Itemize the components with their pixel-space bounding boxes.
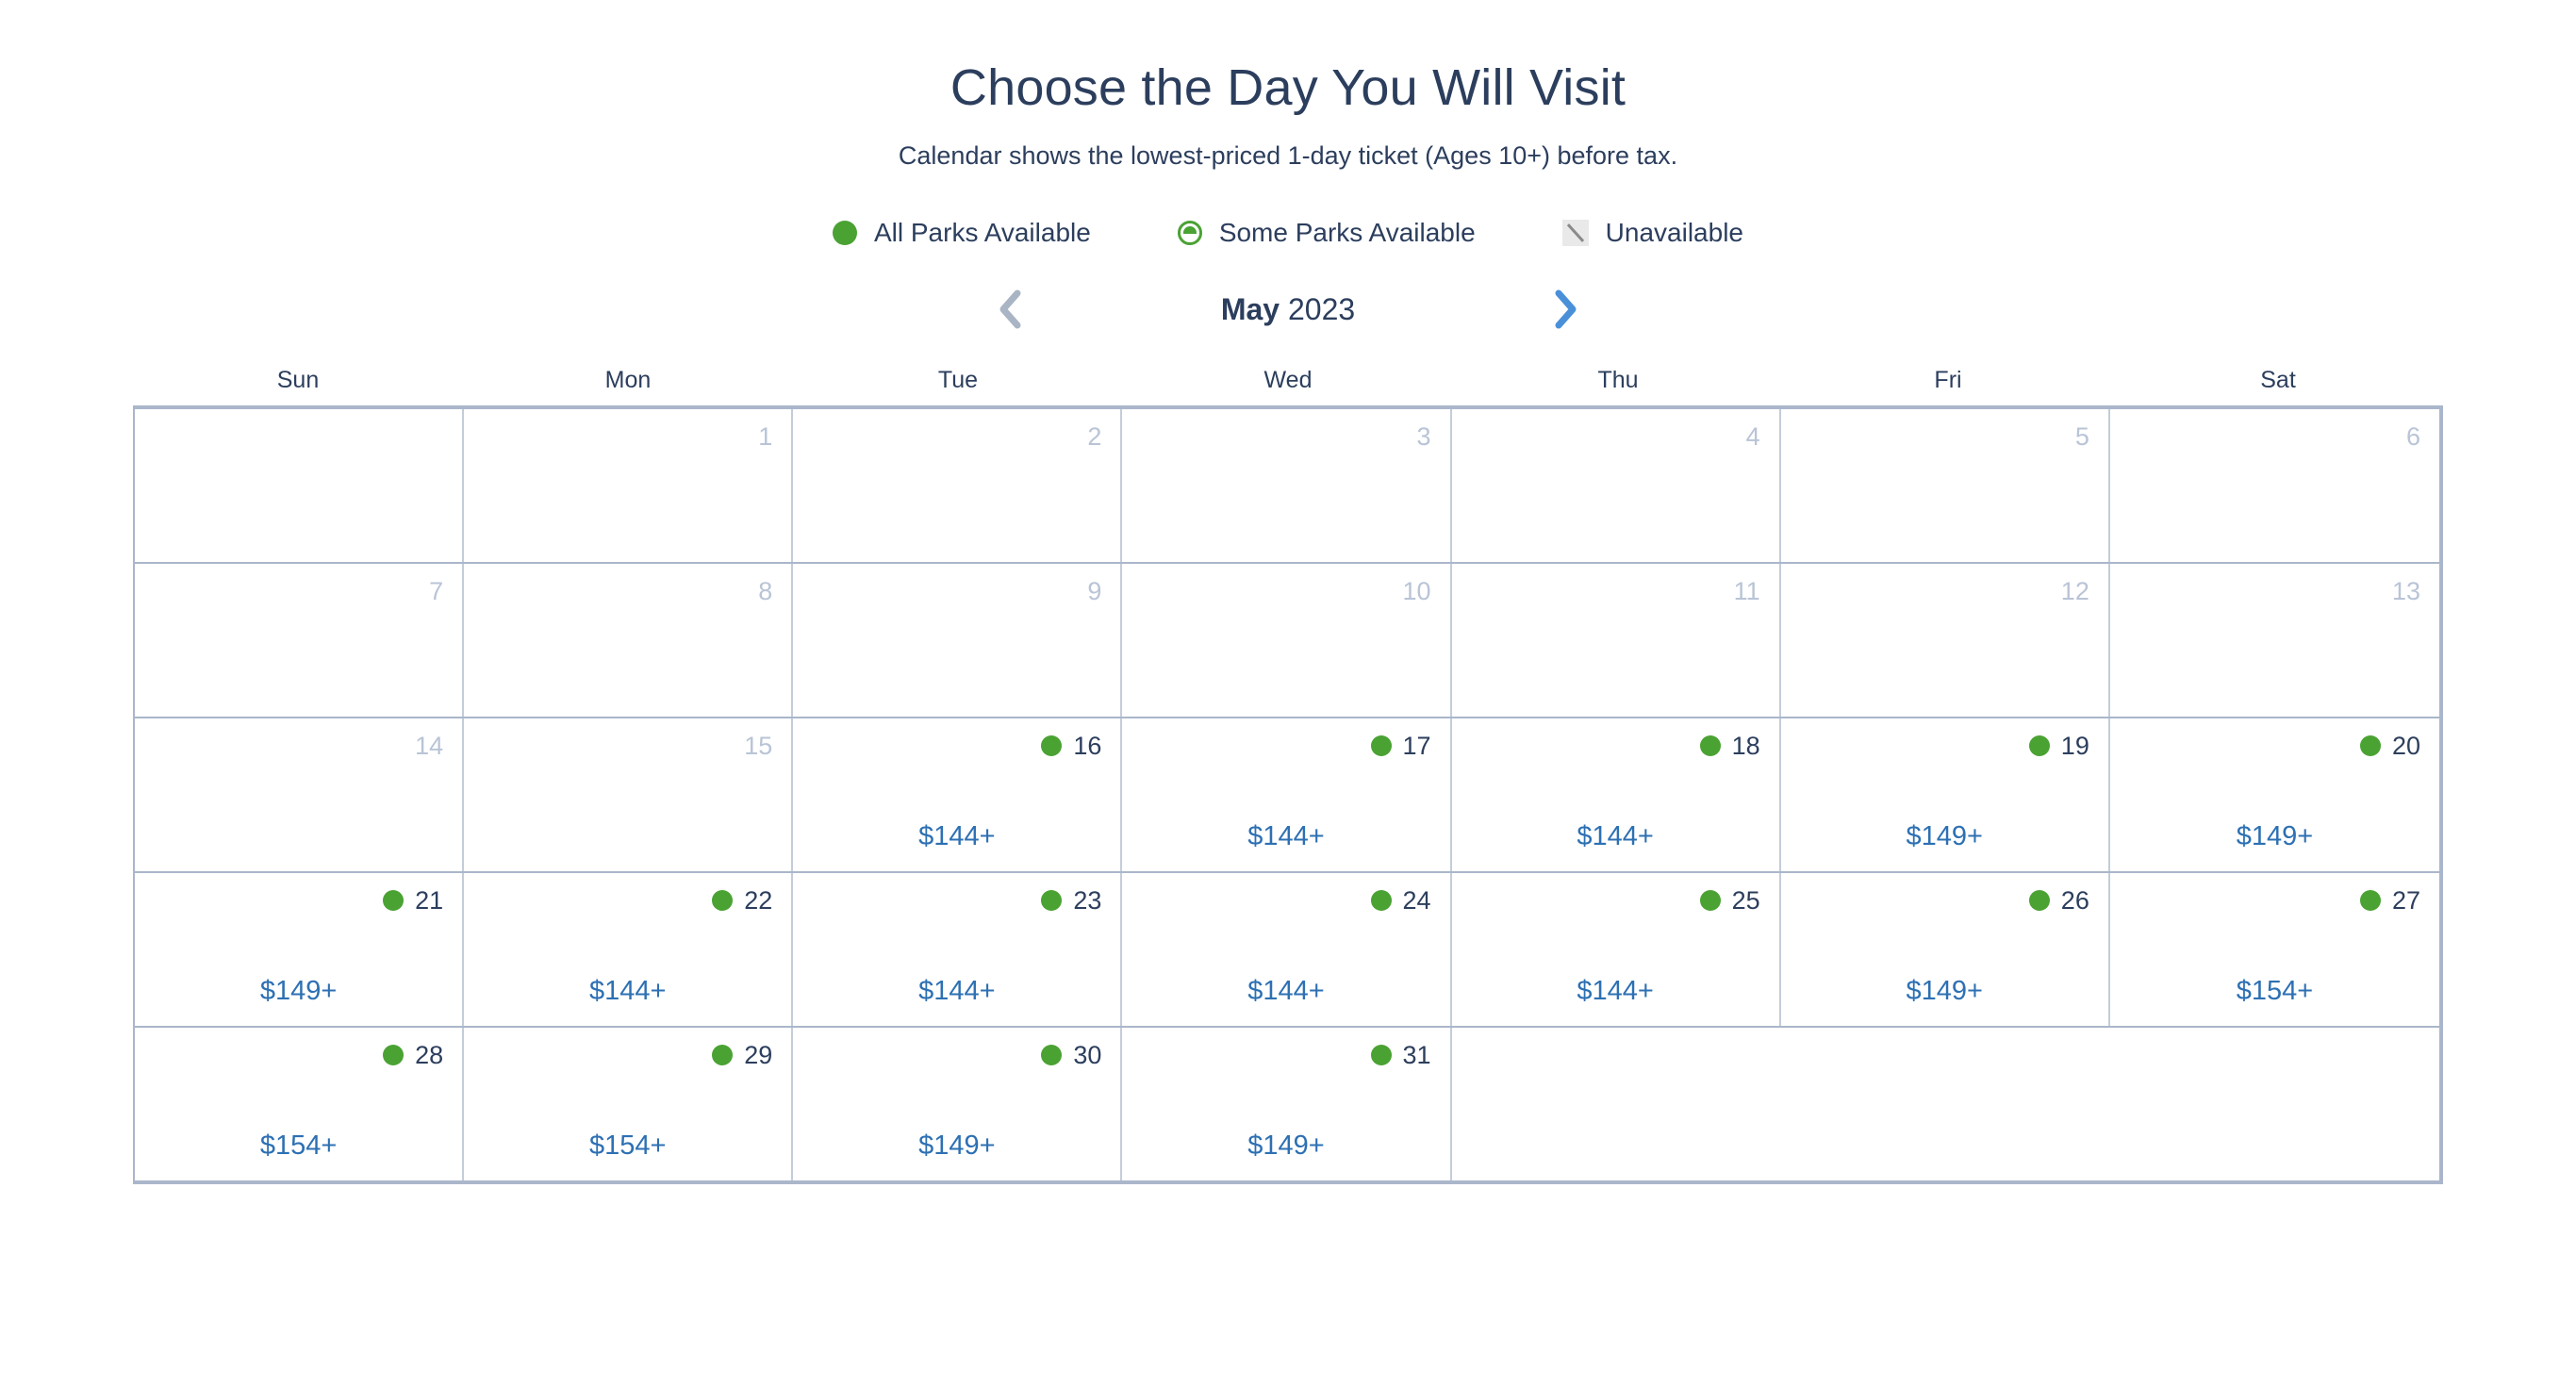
chevron-right-icon <box>1554 289 1578 329</box>
green-filled-circle-icon <box>1700 735 1721 756</box>
calendar-day-header: 30 <box>812 1039 1101 1071</box>
next-month-button[interactable] <box>1541 284 1592 335</box>
calendar-day-header: 26 <box>1800 884 2089 916</box>
calendar-day-number: 9 <box>1087 579 1101 604</box>
calendar-week-row: 21$149+22$144+23$144+24$144+25$144+26$14… <box>135 873 2439 1028</box>
calendar-day-number: 20 <box>2392 734 2420 759</box>
calendar-day-cell[interactable]: 17$144+ <box>1122 718 1451 871</box>
calendar-day-header: 22 <box>483 884 772 916</box>
calendar-day-number: 10 <box>1403 579 1431 604</box>
calendar-container: Sun Mon Tue Wed Thu Fri Sat 123456789101… <box>133 367 2443 1184</box>
calendar-day-header: 15 <box>483 730 772 762</box>
calendar-day-cell[interactable]: 26$149+ <box>1781 873 2110 1026</box>
calendar-day-cell[interactable]: 25$144+ <box>1452 873 1781 1026</box>
calendar-day-header: 12 <box>1800 575 2089 607</box>
calendar-day-cell-disabled: 5 <box>1781 409 2110 562</box>
calendar-day-cell[interactable]: 28$154+ <box>135 1028 464 1180</box>
availability-legend: All Parks Available Some Parks Available… <box>0 218 2576 248</box>
calendar-day-number: 27 <box>2392 888 2420 914</box>
chevron-left-icon <box>998 289 1022 329</box>
calendar-day-price: $144+ <box>812 976 1101 1013</box>
green-filled-circle-icon <box>1041 1045 1062 1065</box>
calendar-day-number: 22 <box>744 888 772 914</box>
calendar-day-price: $144+ <box>1471 976 1760 1013</box>
calendar-day-number: 28 <box>415 1043 443 1068</box>
calendar-day-number: 29 <box>744 1043 772 1068</box>
calendar-day-number: 8 <box>758 579 772 604</box>
calendar-day-cell[interactable]: 24$144+ <box>1122 873 1451 1026</box>
calendar-week-row: 28$154+29$154+30$149+31$149+ <box>135 1028 2439 1180</box>
calendar-day-cell[interactable]: 29$154+ <box>464 1028 793 1180</box>
calendar-day-cell-disabled: 7 <box>135 564 464 717</box>
weekday-mon: Mon <box>463 367 793 394</box>
calendar-day-number: 21 <box>415 888 443 914</box>
calendar-day-price: $149+ <box>1141 1130 1430 1167</box>
calendar-day-header: 4 <box>1471 421 1760 453</box>
calendar-day-cell-disabled: 8 <box>464 564 793 717</box>
calendar-week-row: 123456 <box>135 409 2439 564</box>
weekday-fri: Fri <box>1783 367 2113 394</box>
calendar-day-number: 13 <box>2392 579 2420 604</box>
calendar-day-header: 29 <box>483 1039 772 1071</box>
diagonal-slash-square-icon <box>1562 220 1589 246</box>
page-header: Choose the Day You Will Visit Calendar s… <box>0 0 2576 173</box>
calendar-day-number: 14 <box>415 734 443 759</box>
green-filled-circle-icon <box>1371 890 1392 911</box>
calendar-day-cell-disabled: 1 <box>464 409 793 562</box>
calendar-day-header: 2 <box>812 421 1101 453</box>
legend-item-unavailable: Unavailable <box>1562 218 1743 248</box>
calendar-day-cell-disabled: 15 <box>464 718 793 871</box>
calendar-day-price: $149+ <box>1800 976 2089 1013</box>
calendar-day-number: 17 <box>1403 734 1431 759</box>
calendar-page: Choose the Day You Will Visit Calendar s… <box>0 0 2576 1386</box>
calendar-day-price: $144+ <box>812 821 1101 858</box>
calendar-day-header: 1 <box>483 421 772 453</box>
weekday-header-row: Sun Mon Tue Wed Thu Fri Sat <box>133 367 2443 394</box>
month-name: May <box>1221 292 1280 326</box>
calendar-day-price: $149+ <box>1800 821 2089 858</box>
calendar-day-header: 25 <box>1471 884 1760 916</box>
green-filled-circle-icon <box>383 1045 404 1065</box>
green-filled-circle-icon <box>712 890 733 911</box>
calendar-day-header: 18 <box>1471 730 1760 762</box>
calendar-day-header: 5 <box>1800 421 2089 453</box>
calendar-day-number: 26 <box>2061 888 2089 914</box>
legend-item-some-parks: Some Parks Available <box>1178 218 1476 248</box>
calendar-day-cell[interactable]: 23$144+ <box>793 873 1122 1026</box>
green-half-filled-circle-icon <box>1178 221 1202 245</box>
calendar-day-number: 5 <box>2075 424 2089 450</box>
calendar-day-number: 25 <box>1732 888 1760 914</box>
calendar-day-cell[interactable]: 30$149+ <box>793 1028 1122 1180</box>
calendar-day-number: 7 <box>429 579 443 604</box>
green-filled-circle-icon <box>2029 735 2050 756</box>
calendar-day-header: 28 <box>154 1039 443 1071</box>
calendar-day-cell[interactable]: 27$154+ <box>2110 873 2439 1026</box>
green-filled-circle-icon <box>2360 735 2381 756</box>
legend-label-some-parks: Some Parks Available <box>1219 218 1476 248</box>
green-filled-circle-icon <box>1041 890 1062 911</box>
calendar-day-number: 12 <box>2061 579 2089 604</box>
calendar-cell-empty <box>135 409 464 562</box>
calendar-day-cell[interactable]: 22$144+ <box>464 873 793 1026</box>
page-subtitle: Calendar shows the lowest-priced 1-day t… <box>0 140 2576 173</box>
calendar-day-cell-disabled: 2 <box>793 409 1122 562</box>
calendar-day-header: 20 <box>2129 730 2420 762</box>
calendar-day-number: 4 <box>1746 424 1760 450</box>
green-filled-circle-icon <box>712 1045 733 1065</box>
calendar-day-price: $149+ <box>2129 821 2420 858</box>
calendar-day-price: $149+ <box>154 976 443 1013</box>
green-filled-circle-icon <box>1041 735 1062 756</box>
calendar-day-cell-disabled: 11 <box>1452 564 1781 717</box>
calendar-day-number: 6 <box>2406 424 2420 450</box>
calendar-day-price: $144+ <box>483 976 772 1013</box>
calendar-day-cell-disabled: 14 <box>135 718 464 871</box>
calendar-day-number: 16 <box>1073 734 1101 759</box>
calendar-day-cell[interactable]: 19$149+ <box>1781 718 2110 871</box>
calendar-day-number: 1 <box>758 424 772 450</box>
calendar-day-header: 27 <box>2129 884 2420 916</box>
current-month-label: May 2023 <box>1147 292 1429 327</box>
calendar-day-cell-disabled: 9 <box>793 564 1122 717</box>
calendar-day-header: 7 <box>154 575 443 607</box>
calendar-day-header: 23 <box>812 884 1101 916</box>
calendar-day-number: 15 <box>744 734 772 759</box>
page-title: Choose the Day You Will Visit <box>0 58 2576 117</box>
legend-item-all-parks: All Parks Available <box>833 218 1091 248</box>
calendar-day-header: 17 <box>1141 730 1430 762</box>
calendar-day-number: 18 <box>1732 734 1760 759</box>
calendar-day-cell[interactable]: 18$144+ <box>1452 718 1781 871</box>
legend-label-all-parks: All Parks Available <box>874 218 1091 248</box>
calendar-day-cell-disabled: 13 <box>2110 564 2439 717</box>
weekday-wed: Wed <box>1123 367 1453 394</box>
calendar-day-cell-disabled: 10 <box>1122 564 1451 717</box>
calendar-day-header: 24 <box>1141 884 1430 916</box>
calendar-week-row: 141516$144+17$144+18$144+19$149+20$149+ <box>135 718 2439 873</box>
calendar-day-price: $154+ <box>154 1130 443 1167</box>
calendar-day-header: 9 <box>812 575 1101 607</box>
calendar-day-number: 3 <box>1417 424 1431 450</box>
legend-label-unavailable: Unavailable <box>1606 218 1743 248</box>
calendar-day-header: 31 <box>1141 1039 1430 1071</box>
calendar-day-header: 19 <box>1800 730 2089 762</box>
calendar-day-price: $144+ <box>1471 821 1760 858</box>
calendar-day-header: 6 <box>2129 421 2420 453</box>
calendar-day-number: 19 <box>2061 734 2089 759</box>
green-filled-circle-icon <box>1371 1045 1392 1065</box>
calendar-day-price: $144+ <box>1141 976 1430 1013</box>
calendar-grid: 12345678910111213141516$144+17$144+18$14… <box>133 405 2443 1184</box>
calendar-day-number: 30 <box>1073 1043 1101 1068</box>
calendar-day-number: 24 <box>1403 888 1431 914</box>
green-filled-circle-icon <box>2360 890 2381 911</box>
green-filled-circle-icon <box>383 890 404 911</box>
month-navigation: May 2023 <box>0 284 2576 335</box>
calendar-day-header: 13 <box>2129 575 2420 607</box>
calendar-day-cell-disabled: 3 <box>1122 409 1451 562</box>
calendar-day-header: 10 <box>1141 575 1430 607</box>
green-filled-circle-icon <box>1371 735 1392 756</box>
calendar-day-number: 23 <box>1073 888 1101 914</box>
calendar-day-header: 11 <box>1471 575 1760 607</box>
weekday-thu: Thu <box>1453 367 1783 394</box>
calendar-day-cell-disabled: 6 <box>2110 409 2439 562</box>
calendar-day-cell[interactable]: 21$149+ <box>135 873 464 1026</box>
weekday-tue: Tue <box>793 367 1123 394</box>
calendar-day-price: $149+ <box>812 1130 1101 1167</box>
green-filled-circle-icon <box>2029 890 2050 911</box>
calendar-day-number: 31 <box>1403 1043 1431 1068</box>
calendar-day-price: $154+ <box>483 1130 772 1167</box>
green-filled-circle-icon <box>833 221 857 245</box>
calendar-day-price: $144+ <box>1141 821 1430 858</box>
calendar-day-number: 11 <box>1734 579 1760 604</box>
weekday-sun: Sun <box>133 367 463 394</box>
year-value: 2023 <box>1288 292 1355 326</box>
calendar-day-cell[interactable]: 20$149+ <box>2110 718 2439 871</box>
calendar-day-header: 8 <box>483 575 772 607</box>
calendar-day-header: 21 <box>154 884 443 916</box>
previous-month-button[interactable] <box>984 284 1035 335</box>
calendar-day-price: $154+ <box>2129 976 2420 1013</box>
calendar-day-number: 2 <box>1087 424 1101 450</box>
calendar-week-row: 78910111213 <box>135 564 2439 718</box>
calendar-day-cell-disabled: 12 <box>1781 564 2110 717</box>
calendar-cell-empty-merged <box>1452 1028 2110 1180</box>
calendar-day-header: 16 <box>812 730 1101 762</box>
calendar-day-header: 3 <box>1141 421 1430 453</box>
calendar-day-header: 14 <box>154 730 443 762</box>
calendar-day-cell-disabled: 4 <box>1452 409 1781 562</box>
calendar-day-cell[interactable]: 16$144+ <box>793 718 1122 871</box>
calendar-day-cell[interactable]: 31$149+ <box>1122 1028 1451 1180</box>
green-filled-circle-icon <box>1700 890 1721 911</box>
weekday-sat: Sat <box>2113 367 2443 394</box>
